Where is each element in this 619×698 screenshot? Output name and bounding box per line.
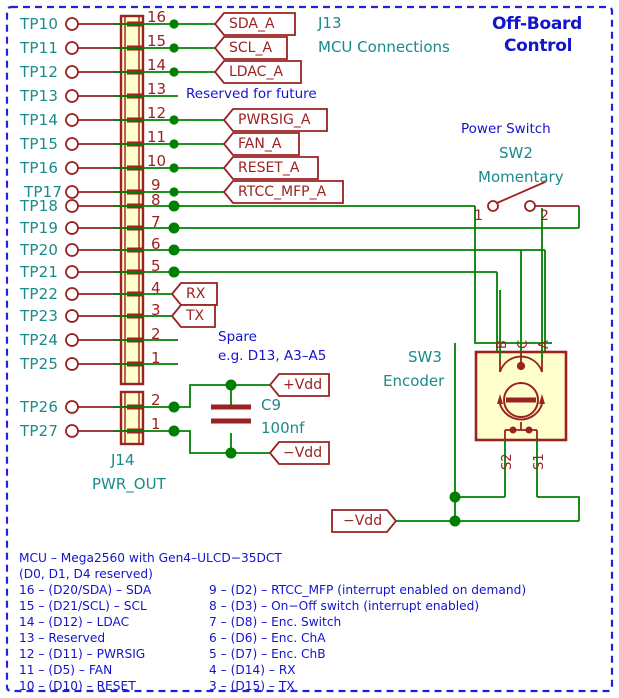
net-label-tx: TX bbox=[186, 309, 204, 323]
j14-pin-number-1: 1 bbox=[151, 417, 161, 432]
legend-header-line2: (D0, D1, D4 reserved) bbox=[19, 567, 153, 583]
connector-j13-desc: MCU Connections bbox=[318, 40, 450, 55]
connector-j13-ref: J13 bbox=[318, 16, 342, 31]
net-label-reset-a: RESET_A bbox=[238, 161, 299, 175]
encoder-ref: SW3 bbox=[408, 350, 442, 365]
spare-note-line1: Spare bbox=[218, 331, 257, 345]
legend-right-1: 8 – (D3) – On−Off switch (interrupt enab… bbox=[209, 599, 479, 615]
legend-left-0: 16 – (D20/SDA) – SDA bbox=[19, 583, 151, 599]
pin-number-3: 3 bbox=[151, 303, 161, 318]
legend-right-2: 7 – (D8) – Enc. Switch bbox=[209, 615, 341, 631]
connector-j14-symbol bbox=[121, 392, 143, 444]
pin-number-14: 14 bbox=[147, 58, 166, 73]
encoder-pin-s1-label: S1 bbox=[533, 453, 546, 470]
power-switch-pin2: 2 bbox=[540, 209, 549, 223]
testpoint-label-tp20: TP20 bbox=[20, 243, 58, 258]
power-switch-pin1: 1 bbox=[474, 209, 483, 223]
power-switch-type: Momentary bbox=[478, 170, 564, 185]
legend-left-3: 13 – Reserved bbox=[19, 631, 105, 647]
testpoint-label-tp14: TP14 bbox=[20, 113, 58, 128]
net-label-rtcc-mfp-a: RTCC_MFP_A bbox=[238, 185, 326, 199]
pin-number-1: 1 bbox=[151, 351, 161, 366]
encoder-pin-c-label: C bbox=[517, 340, 530, 349]
legend-right-6: 3 – (D15) – TX bbox=[209, 679, 295, 695]
testpoint-label-tp23: TP23 bbox=[20, 309, 58, 324]
testpoint-label-tp15: TP15 bbox=[20, 137, 58, 152]
net-label-pwrsig-a: PWRSIG_A bbox=[238, 113, 310, 127]
testpoint-label-tp13: TP13 bbox=[20, 89, 58, 104]
net-label-sda-a: SDA_A bbox=[229, 17, 275, 31]
legend-left-2: 14 – (D12) – LDAC bbox=[19, 615, 129, 631]
pin-number-16: 16 bbox=[147, 10, 166, 25]
sheet-title-line1: Off-Board bbox=[492, 16, 582, 33]
pin-number-7: 7 bbox=[151, 215, 161, 230]
capacitor-c9-symbol bbox=[211, 407, 251, 421]
encoder-pin-s2-label: S2 bbox=[501, 453, 514, 470]
j14-pin-number-2: 2 bbox=[151, 393, 161, 408]
legend-right-4: 5 – (D7) – Enc. ChB bbox=[209, 647, 326, 663]
switch-sw2-symbol bbox=[488, 182, 579, 211]
legend-left-1: 15 – (D21/SCL) – SCL bbox=[19, 599, 147, 615]
power-switch-caption: Power Switch bbox=[461, 123, 551, 137]
testpoint-label-tp18: TP18 bbox=[20, 199, 58, 214]
testpoint-label-tp24: TP24 bbox=[20, 333, 58, 348]
legend-header-line1: MCU – Mega2560 with Gen4–ULCD−35DCT bbox=[19, 551, 282, 567]
pin-number-8: 8 bbox=[151, 193, 161, 208]
testpoint-label-tp22: TP22 bbox=[20, 287, 58, 302]
pin-number-6: 6 bbox=[151, 237, 161, 252]
encoder-pin-b-label: B bbox=[496, 340, 509, 349]
net-label-scl-a: SCL_A bbox=[229, 41, 272, 55]
pin-number-13: 13 bbox=[147, 82, 166, 97]
connector-j14-ref: J14 bbox=[111, 453, 135, 468]
schematic-sheet: Off-Board Control TP10 TP11 TP12 TP13 TP… bbox=[0, 0, 619, 698]
net-label-plus-vdd: +Vdd bbox=[283, 378, 322, 392]
power-switch-ref: SW2 bbox=[499, 146, 533, 161]
legend-right-0: 9 – (D2) – RTCC_MFP (interrupt enabled o… bbox=[209, 583, 526, 599]
net-label-rx: RX bbox=[186, 287, 205, 301]
testpoint-label-tp25: TP25 bbox=[20, 357, 58, 372]
capacitor-value: 100nf bbox=[261, 421, 304, 436]
net-label-ground-minus-vdd: −Vdd bbox=[343, 514, 382, 528]
encoder-sw3-symbol bbox=[476, 352, 566, 440]
capacitor-ref: C9 bbox=[261, 398, 281, 413]
pin-number-10: 10 bbox=[147, 154, 166, 169]
spare-note-line2: e.g. D13, A3–A5 bbox=[218, 350, 326, 364]
encoder-desc: Encoder bbox=[383, 374, 444, 389]
note-reserved-for-future: Reserved for future bbox=[186, 88, 317, 102]
net-label-fan-a: FAN_A bbox=[238, 137, 281, 151]
pin-number-5: 5 bbox=[151, 259, 161, 274]
testpoint-label-tp21: TP21 bbox=[20, 265, 58, 280]
sheet-title-line2: Control bbox=[504, 38, 572, 55]
pin-number-4: 4 bbox=[151, 281, 161, 296]
pin-number-12: 12 bbox=[147, 106, 166, 121]
legend-left-4: 12 – (D11) – PWRSIG bbox=[19, 647, 145, 663]
testpoint-label-tp26: TP26 bbox=[20, 400, 58, 415]
net-label-ldac-a: LDAC_A bbox=[229, 65, 283, 79]
testpoint-label-tp16: TP16 bbox=[20, 161, 58, 176]
testpoint-label-tp10: TP10 bbox=[20, 17, 58, 32]
testpoint-label-tp12: TP12 bbox=[20, 65, 58, 80]
testpoint-label-tp19: TP19 bbox=[20, 221, 58, 236]
encoder-pin-a-label: A bbox=[538, 340, 551, 349]
pin-number-15: 15 bbox=[147, 34, 166, 49]
testpoint-label-tp11: TP11 bbox=[20, 41, 58, 56]
testpoint-label-tp27: TP27 bbox=[20, 424, 58, 439]
net-label-minus-vdd: −Vdd bbox=[283, 446, 322, 460]
pin-number-2: 2 bbox=[151, 327, 161, 342]
legend-left-5: 11 – (D5) – FAN bbox=[19, 663, 112, 679]
legend-right-3: 6 – (D6) – Enc. ChA bbox=[209, 631, 326, 647]
legend-left-6: 10 – (D10) – RESET bbox=[19, 679, 136, 695]
legend-right-5: 4 – (D14) – RX bbox=[209, 663, 296, 679]
pin-number-11: 11 bbox=[147, 130, 166, 145]
connector-j14-desc: PWR_OUT bbox=[92, 477, 166, 492]
